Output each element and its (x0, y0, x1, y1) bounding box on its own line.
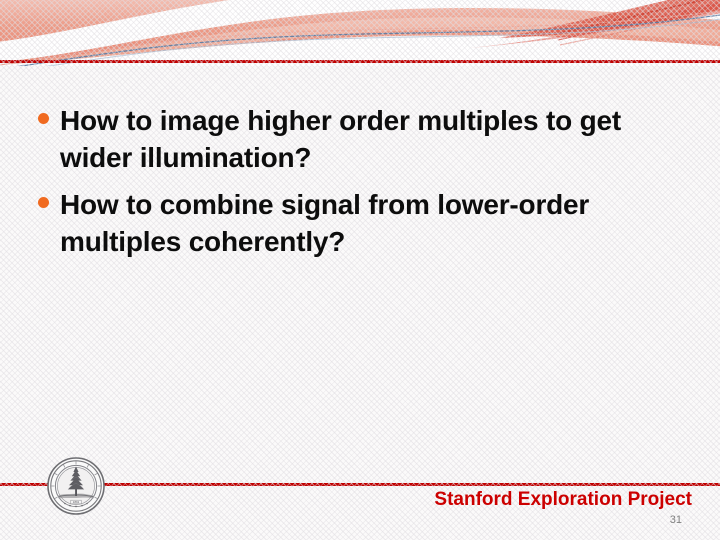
bullet-text: How to combine signal from lower-order m… (60, 187, 660, 261)
bullet-item: How to image higher order multiples to g… (38, 103, 693, 177)
slide-number: 31 (670, 514, 682, 526)
bullet-item: How to combine signal from lower-order m… (38, 187, 693, 261)
footer-divider-rule (0, 483, 720, 486)
footer-organization-title: Stanford Exploration Project (434, 489, 692, 511)
header-divider-rule (0, 60, 720, 63)
bullet-dot-icon (38, 113, 49, 124)
header-banner-decoration (0, 0, 720, 66)
presentation-slide: How to image higher order multiples to g… (0, 0, 720, 540)
slide-body-content: How to image higher order multiples to g… (38, 103, 693, 271)
bullet-dot-icon (38, 197, 49, 208)
stanford-seal-icon: 1891 (47, 457, 105, 515)
bullet-text: How to image higher order multiples to g… (60, 103, 690, 177)
seal-year: 1891 (73, 500, 80, 504)
